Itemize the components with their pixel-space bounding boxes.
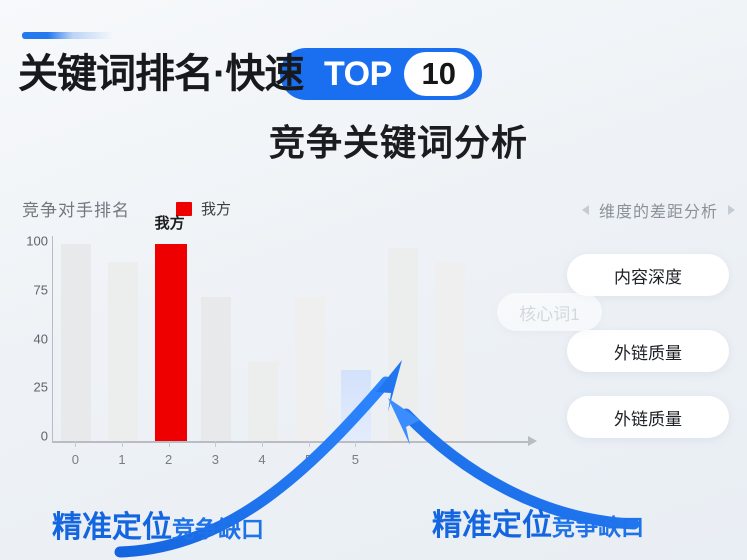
subtitle: 竞争关键词分析 (0, 114, 747, 166)
x-tick-label: 0 (72, 452, 79, 467)
caption-left: 精准定位 竞争缺口 (52, 502, 264, 546)
bar-competitor (295, 297, 325, 441)
x-tick (309, 441, 310, 447)
y-tick-label: 0 (8, 429, 48, 444)
bar-target-gap (341, 370, 371, 441)
x-tick-label: 1 (118, 452, 125, 467)
caption-left-secondary: 竞争缺口 (172, 510, 264, 544)
x-tick-label: 4 (258, 452, 265, 467)
headline-row: 关键词排名·快速 (18, 46, 303, 102)
competitor-ranking-chart: 1007540250 我方 0123455 (0, 236, 560, 486)
bar-mine-label: 我方 (155, 212, 185, 233)
y-tick-label: 40 (8, 331, 48, 346)
badge-number: 10 (404, 52, 474, 96)
dimension-gap-header: 维度的差距分析 (582, 198, 735, 222)
y-tick-label: 100 (8, 234, 48, 249)
x-tick (262, 441, 263, 447)
x-tick (169, 441, 170, 447)
badge-word: TOP (324, 57, 404, 91)
bar-competitor (248, 362, 278, 441)
bar-competitor (388, 248, 418, 441)
chevron-left-icon[interactable] (582, 205, 589, 215)
caption-right: 精准定位 竞争缺口 (432, 500, 644, 544)
legend-label: 我方 (201, 198, 231, 219)
x-tick (355, 441, 356, 447)
caption-right-secondary: 竞争缺口 (552, 508, 644, 542)
bar-competitor (61, 244, 91, 441)
chevron-right-icon[interactable] (728, 205, 735, 215)
x-tick-label: 3 (212, 452, 219, 467)
accent-bar (22, 32, 114, 39)
y-tick-label: 25 (8, 380, 48, 395)
dimension-card-content-depth[interactable]: 内容深度 (567, 254, 729, 296)
y-axis: 1007540250 (0, 236, 48, 441)
x-tick (75, 441, 76, 447)
y-tick-label: 75 (8, 282, 48, 297)
chart-plot-area: 我方 (52, 236, 472, 441)
x-axis (52, 441, 530, 443)
chart-legend: 竞争对手排名 我方 (22, 196, 231, 221)
x-tick-label: 5 (352, 452, 359, 467)
x-tick (122, 441, 123, 447)
x-tick-label: 2 (165, 452, 172, 467)
bar-competitor (201, 297, 231, 441)
x-tick (215, 441, 216, 447)
dimension-card-backlink-quality-2[interactable]: 外链质量 (567, 396, 729, 438)
caption-right-primary: 精准定位 (432, 500, 552, 544)
bar-competitor (435, 262, 465, 441)
x-tick-label: 5 (305, 452, 312, 467)
x-axis-arrow-icon (528, 436, 537, 446)
caption-left-primary: 精准定位 (52, 502, 172, 546)
legend-title: 竞争对手排名 (22, 196, 130, 221)
bar-mine (155, 244, 187, 441)
bar-competitor (108, 262, 138, 441)
dimension-gap-title: 维度的差距分析 (599, 198, 718, 222)
top-rank-badge: TOP 10 (280, 48, 482, 100)
page-title: 关键词排名·快速 (18, 54, 303, 94)
dimension-card-backlink-quality-1[interactable]: 外链质量 (567, 330, 729, 372)
